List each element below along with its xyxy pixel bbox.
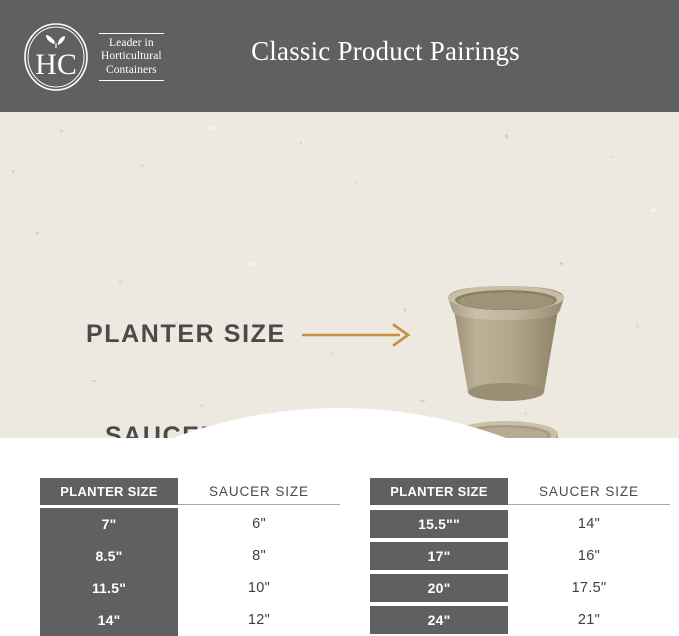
table-header-row: PLANTER SIZE SAUCER SIZE	[370, 478, 670, 505]
table-header-row: PLANTER SIZE SAUCER SIZE	[40, 478, 340, 505]
saucer-size-value: 17.5"	[508, 580, 670, 596]
column-header-saucer: SAUCER SIZE	[178, 478, 340, 505]
planter-size-value: 11.5"	[40, 580, 178, 596]
planter-size-value: 15.5""	[370, 516, 508, 532]
planter-size-value: 17"	[370, 548, 508, 564]
planter-size-value: 14"	[40, 612, 178, 628]
saucer-size-value: 16"	[508, 548, 670, 564]
saucer-size-value: 6"	[178, 516, 340, 532]
planter-product-image	[440, 280, 572, 402]
saucer-size-value: 8"	[178, 548, 340, 564]
planter-size-value: 20"	[370, 580, 508, 596]
product-pairings-page: HC Leader in Horticultural Containers Cl…	[0, 0, 679, 636]
size-table-right: PLANTER SIZE SAUCER SIZE 15.5"" 14" 17" …	[370, 478, 670, 505]
planter-size-value: 8.5"	[40, 548, 178, 564]
size-pairing-tables: PLANTER SIZE SAUCER SIZE 7" 6" 8.5" 8" 1…	[0, 438, 679, 636]
saucer-size-value: 14"	[508, 516, 670, 532]
saucer-size-value: 12"	[178, 612, 340, 628]
planter-size-label: PLANTER SIZE	[86, 320, 286, 349]
hero-panel: PLANTER SIZE SAUCER SIZE	[0, 112, 679, 438]
table-row: 11.5" 10"	[40, 572, 340, 604]
page-title: Classic Product Pairings	[0, 36, 679, 67]
planter-size-value: 24"	[370, 612, 508, 628]
table-row: 17" 16"	[370, 540, 670, 572]
size-table-left: PLANTER SIZE SAUCER SIZE 7" 6" 8.5" 8" 1…	[40, 478, 340, 505]
saucer-size-value: 21"	[508, 612, 670, 628]
column-header-saucer: SAUCER SIZE	[508, 478, 670, 505]
saucer-size-value: 10"	[178, 580, 340, 596]
table-row: 7" 6"	[40, 508, 340, 540]
page-title-text: Classic Product Pairings	[159, 36, 520, 67]
table-body: 15.5"" 14" 17" 16" 20" 17.5" 24" 21"	[370, 508, 670, 636]
table-row: 8.5" 8"	[40, 540, 340, 572]
column-header-planter: PLANTER SIZE	[370, 478, 508, 505]
table-row: 24" 21"	[370, 604, 670, 636]
panel-bottom-curve	[0, 408, 679, 438]
arrow-right-icon	[302, 322, 414, 348]
table-row: 20" 17.5"	[370, 572, 670, 604]
table-body: 7" 6" 8.5" 8" 11.5" 10" 14" 12"	[40, 508, 340, 636]
planter-size-value: 7"	[40, 516, 178, 532]
table-row: 15.5"" 14"	[370, 508, 670, 540]
planter-size-callout: PLANTER SIZE	[86, 320, 414, 349]
table-row: 14" 12"	[40, 604, 340, 636]
column-header-planter: PLANTER SIZE	[40, 478, 178, 505]
page-header: HC Leader in Horticultural Containers Cl…	[0, 0, 679, 112]
